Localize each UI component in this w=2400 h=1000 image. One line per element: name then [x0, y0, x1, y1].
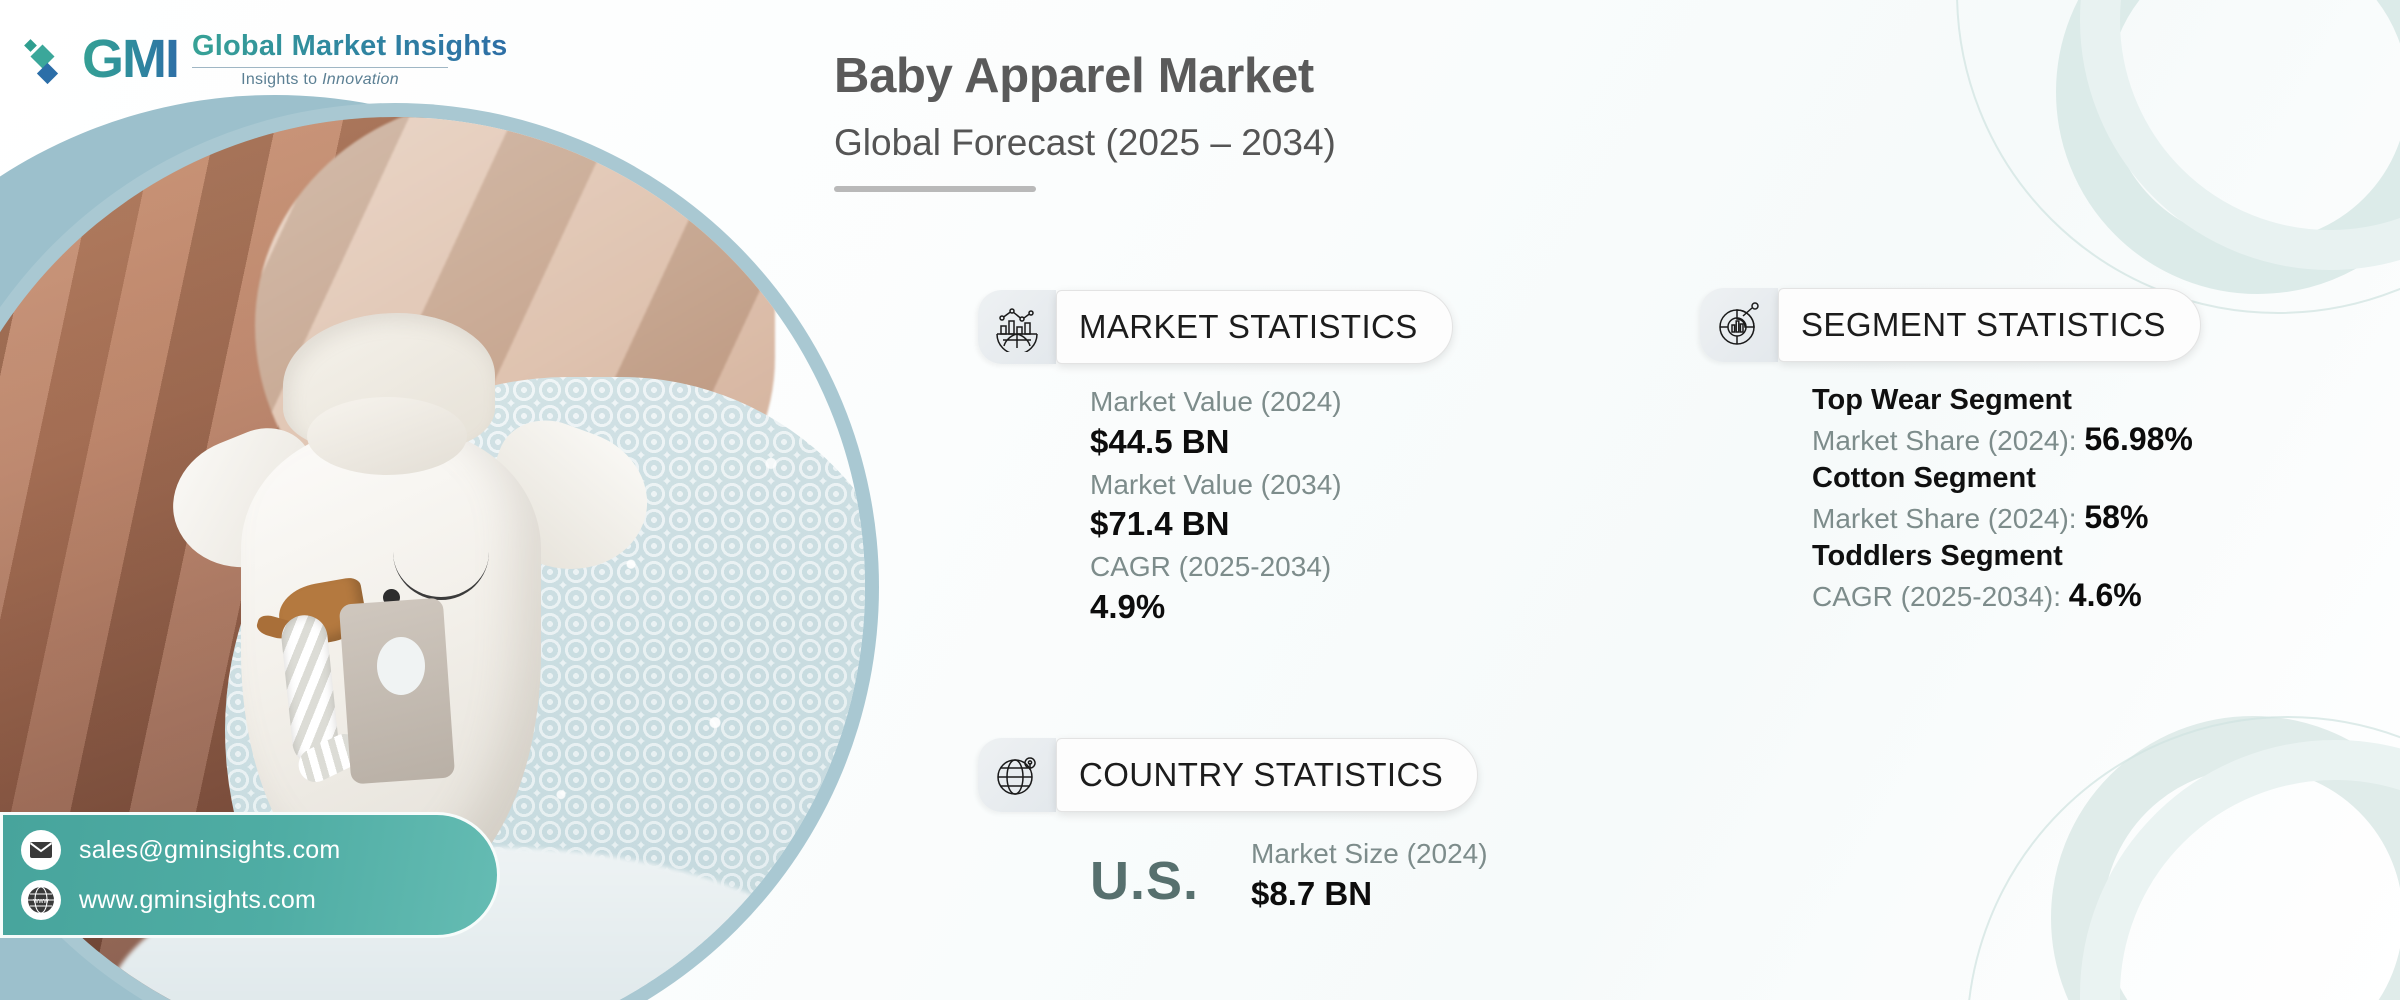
contact-website-row[interactable]: www www.gminsights.com — [21, 880, 497, 920]
contact-badge: sales@gminsights.com www www.gminsights.… — [0, 812, 500, 938]
country-statistics-body: U.S. Market Size (2024) $8.7 BN — [1090, 836, 1488, 915]
country-statistics-title-pill: COUNTRY STATISTICS — [1056, 738, 1478, 812]
globe-www-icon: www — [21, 880, 61, 920]
country-value: $8.7 BN — [1251, 873, 1488, 915]
segment-metric-value-2: 4.6% — [2069, 577, 2142, 613]
segment-metric-2: CAGR (2025-2034): 4.6% — [1812, 575, 2201, 616]
logo-wordmark: Global Market Insights Insights to Innov… — [192, 30, 507, 89]
segment-name-2: Toddlers Segment — [1812, 538, 2201, 575]
panel-country-statistics: COUNTRY STATISTICS U.S. Market Size (202… — [978, 738, 1488, 915]
logo-tagline-emphasis: Innovation — [322, 71, 399, 88]
market-row-0: Market Value (2024) $44.5 BN — [1090, 384, 1453, 463]
segment-row-1: Cotton Segment Market Share (2024): 58% — [1812, 460, 2201, 538]
market-statistics-header: MARKET STATISTICS — [978, 290, 1453, 364]
market-statistics-title: MARKET STATISTICS — [1079, 308, 1418, 346]
contact-website-text: www.gminsights.com — [79, 886, 316, 915]
market-row-1: Market Value (2034) $71.4 BN — [1090, 467, 1453, 546]
logo-tagline: Insights to Innovation — [192, 71, 448, 89]
logo-company-name: Global Market Insights — [192, 30, 507, 63]
market-value-2: 4.9% — [1090, 586, 1453, 628]
country-label: Market Size (2024) — [1251, 836, 1488, 873]
market-value-1: $71.4 BN — [1090, 503, 1453, 545]
infographic-page: GMI Global Market Insights Insights to I… — [0, 0, 2400, 1000]
segment-metric-1: Market Share (2024): 58% — [1812, 497, 2201, 538]
market-value-0: $44.5 BN — [1090, 421, 1453, 463]
svg-text:www: www — [32, 898, 49, 905]
title-underline — [834, 186, 1036, 192]
country-metric: Market Size (2024) $8.7 BN — [1251, 836, 1488, 915]
segment-name-0: Top Wear Segment — [1812, 382, 2201, 419]
segment-metric-value-0: 56.98% — [2084, 421, 2193, 457]
panel-market-statistics: MARKET STATISTICS Market Value (2024) $4… — [978, 290, 1453, 628]
segment-statistics-header: SEGMENT STATISTICS — [1700, 288, 2201, 362]
country-statistics-header: COUNTRY STATISTICS — [978, 738, 1488, 812]
gmi-logo: GMI Global Market Insights Insights to I… — [26, 28, 507, 90]
segment-row-2: Toddlers Segment CAGR (2025-2034): 4.6% — [1812, 538, 2201, 616]
decorative-swoosh-bottom — [1966, 716, 2400, 1000]
segment-metric-value-1: 58% — [2084, 499, 2148, 535]
page-title-block: Baby Apparel Market Global Forecast (202… — [834, 48, 1734, 192]
market-label-2: CAGR (2025-2034) — [1090, 549, 1453, 586]
logo-mark: GMI — [82, 32, 178, 86]
panel-segment-statistics: SEGMENT STATISTICS Top Wear Segment Mark… — [1700, 288, 2201, 616]
segment-metric-label-0: Market Share (2024): — [1812, 425, 2084, 456]
segment-statistics-body: Top Wear Segment Market Share (2024): 56… — [1812, 382, 2201, 616]
globe-pin-icon — [978, 738, 1056, 812]
segment-metric-label-2: CAGR (2025-2034): — [1812, 581, 2069, 612]
logo-diamonds-icon — [26, 28, 68, 90]
contact-email-row[interactable]: sales@gminsights.com — [21, 830, 497, 870]
donut-chart-icon — [1700, 288, 1778, 362]
market-label-1: Market Value (2034) — [1090, 467, 1453, 504]
segment-name-1: Cotton Segment — [1812, 460, 2201, 497]
segment-statistics-title-pill: SEGMENT STATISTICS — [1778, 288, 2201, 362]
page-subtitle: Global Forecast (2025 – 2034) — [834, 122, 1734, 164]
segment-metric-label-1: Market Share (2024): — [1812, 503, 2084, 534]
decorative-swoosh-top — [1956, 0, 2400, 314]
logo-tagline-plain: Insights to — [241, 71, 322, 88]
segment-metric-0: Market Share (2024): 56.98% — [1812, 419, 2201, 460]
market-statistics-title-pill: MARKET STATISTICS — [1056, 290, 1453, 364]
country-name: U.S. — [1090, 850, 1199, 912]
envelope-icon — [21, 830, 61, 870]
country-statistics-title: COUNTRY STATISTICS — [1079, 756, 1443, 794]
market-row-2: CAGR (2025-2034) 4.9% — [1090, 549, 1453, 628]
logo-divider — [192, 67, 448, 68]
segment-statistics-title: SEGMENT STATISTICS — [1801, 306, 2166, 344]
market-statistics-body: Market Value (2024) $44.5 BN Market Valu… — [1090, 384, 1453, 628]
segment-row-0: Top Wear Segment Market Share (2024): 56… — [1812, 382, 2201, 460]
contact-email-text: sales@gminsights.com — [79, 836, 340, 865]
market-label-0: Market Value (2024) — [1090, 384, 1453, 421]
globe-bar-chart-icon — [978, 290, 1056, 364]
page-title: Baby Apparel Market — [834, 48, 1734, 104]
